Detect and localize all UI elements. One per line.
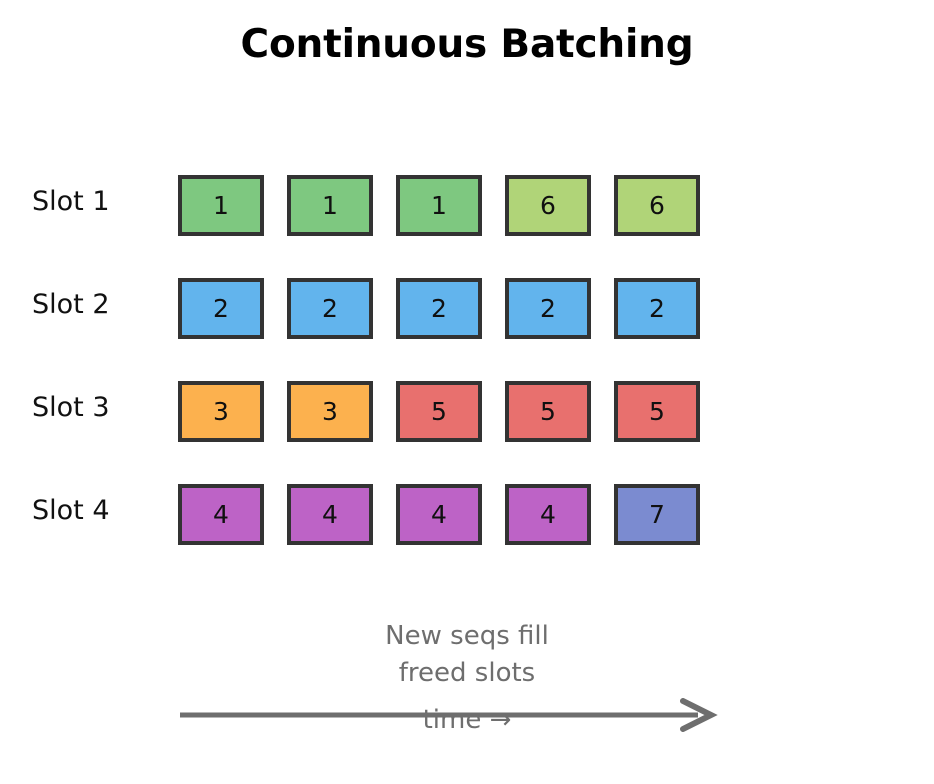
- sequence-cell[interactable]: 4: [396, 484, 482, 545]
- sequence-cell[interactable]: 3: [287, 381, 373, 442]
- slot-row-label: Slot 1: [32, 186, 110, 218]
- annotation-line-1: New seqs fill: [0, 618, 934, 655]
- sequence-cell[interactable]: 7: [614, 484, 700, 545]
- sequence-cell[interactable]: 1: [178, 175, 264, 236]
- annotation-line-2: freed slots: [0, 655, 934, 692]
- slot-timeline-grid: Slot 111166Slot 222222Slot 333555Slot 44…: [0, 168, 934, 580]
- sequence-cell[interactable]: 4: [178, 484, 264, 545]
- sequence-cell[interactable]: 6: [614, 175, 700, 236]
- sequence-cell[interactable]: 3: [178, 381, 264, 442]
- sequence-cell[interactable]: 2: [287, 278, 373, 339]
- sequence-cell[interactable]: 2: [178, 278, 264, 339]
- slot-row-label: Slot 2: [32, 289, 110, 321]
- sequence-cell[interactable]: 2: [614, 278, 700, 339]
- slot-row: Slot 111166: [0, 168, 934, 271]
- sequence-cell[interactable]: 2: [396, 278, 482, 339]
- annotation-new-seqs-fill-freed-slots: New seqs fill freed slots: [0, 618, 934, 692]
- slot-row: Slot 333555: [0, 374, 934, 477]
- sequence-cell[interactable]: 5: [396, 381, 482, 442]
- sequence-cell[interactable]: 5: [505, 381, 591, 442]
- sequence-cell[interactable]: 4: [505, 484, 591, 545]
- sequence-cell[interactable]: 6: [505, 175, 591, 236]
- sequence-cell[interactable]: 1: [396, 175, 482, 236]
- time-axis-label: time →: [0, 703, 934, 737]
- sequence-cell[interactable]: 4: [287, 484, 373, 545]
- slot-row-label: Slot 4: [32, 495, 110, 527]
- page-title: Continuous Batching: [0, 22, 934, 67]
- sequence-cell[interactable]: 5: [614, 381, 700, 442]
- continuous-batching-diagram: Continuous Batching Slot 111166Slot 2222…: [0, 0, 934, 784]
- sequence-cell[interactable]: 1: [287, 175, 373, 236]
- slot-row: Slot 222222: [0, 271, 934, 374]
- slot-row-label: Slot 3: [32, 392, 110, 424]
- slot-row: Slot 444447: [0, 477, 934, 580]
- sequence-cell[interactable]: 2: [505, 278, 591, 339]
